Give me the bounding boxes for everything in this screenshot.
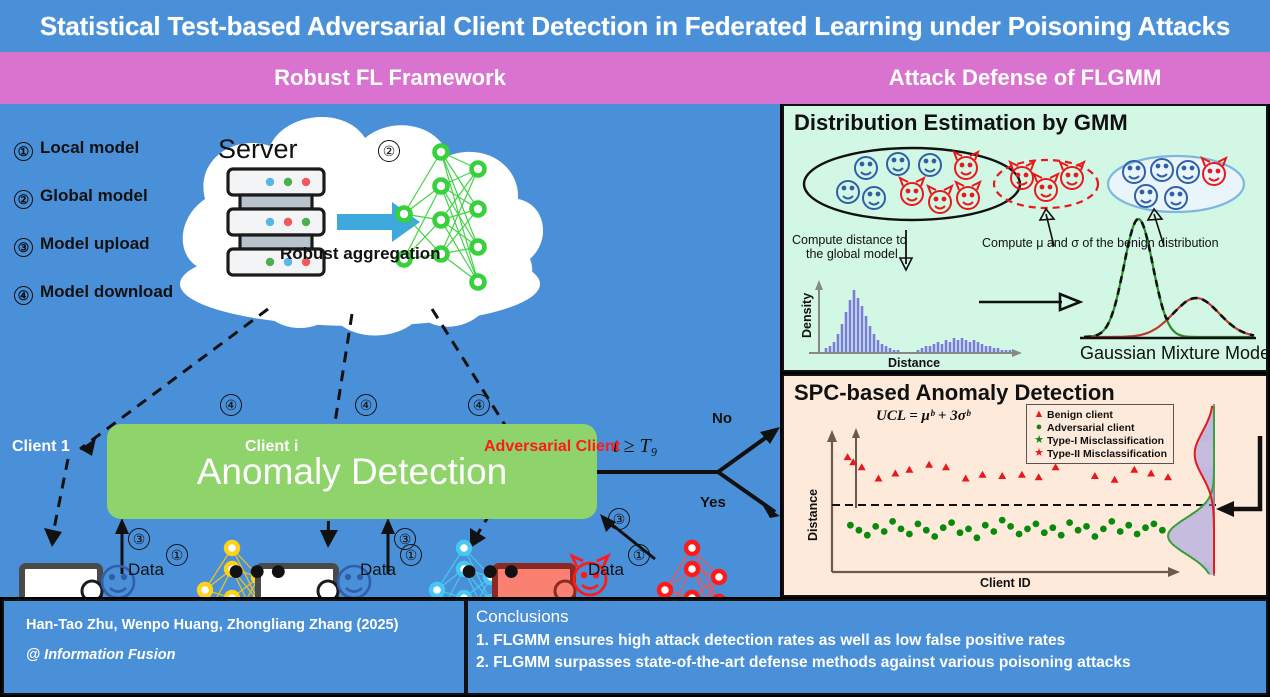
ellipsis-1: ●●●: [227, 556, 290, 586]
ucl-formula: UCL = μᵇ + 3σᵇ: [876, 408, 970, 425]
benign-cluster-ellipse: [1108, 156, 1244, 212]
download-marker-1: ④: [220, 394, 242, 416]
footer-authors-block: Han-Tao Zhu, Wenpo Huang, Zhongliang Zha…: [2, 599, 466, 695]
histogram-x-axis-label: Distance: [888, 356, 940, 370]
download-marker-2: ④: [355, 394, 377, 416]
footer-venue: @ Information Fusion: [26, 647, 464, 663]
data-label-i: Data: [352, 560, 404, 580]
circled-number-3: ③: [14, 238, 33, 257]
conclusion-item-2: 2. FLGMM surpasses state-of-the-art defe…: [476, 654, 1266, 672]
decision-arrowheads: [760, 427, 780, 518]
adversarial-face-icons-mixed: [900, 152, 980, 213]
benign-face-icons-mixed: [837, 153, 941, 209]
distance-histogram-bars: [826, 290, 1010, 352]
histogram-axes: [809, 286, 1016, 353]
circled-number-2: ②: [14, 190, 33, 209]
adversarial-client-marker-icon: ●: [1031, 422, 1047, 433]
spc-legend: ▲ Benign client ● Adversarial client ★ T…: [1026, 404, 1174, 464]
side-density-fill: [1168, 406, 1214, 574]
spc-legend-label-adversarial: Adversarial client: [1047, 422, 1135, 434]
server-label: Server: [218, 134, 298, 165]
data-label-adversarial: Data: [580, 560, 632, 580]
poster-root: Statistical Test-based Adversarial Clien…: [0, 0, 1270, 697]
benign-face-icons-cluster: [1123, 159, 1199, 209]
benign-client-marker-icon: ▲: [1031, 409, 1047, 420]
ellipsis-2: ●●●: [460, 556, 523, 586]
anomaly-detection-label: Anomaly Detection: [197, 451, 508, 493]
gmm-transform-arrowhead: [1060, 294, 1080, 310]
legend-item-local-model: ①Local model: [14, 138, 139, 161]
spc-legend-row-type1: ★ Type-I Misclassification: [1031, 434, 1167, 447]
data-label-1: Data: [120, 560, 172, 580]
cluster-pointer-arrowheads: [1040, 209, 1162, 220]
legend-item-global-model: ②Global model: [14, 186, 148, 209]
compute-mu-sigma-caption: Compute μ and σ of the benign distributi…: [982, 236, 1219, 250]
gmm-panel-heading: Distribution Estimation by GMM: [794, 110, 1128, 136]
spc-y-arrowhead: [827, 430, 837, 442]
spc-y-axis-label: Distance: [806, 489, 820, 541]
spc-legend-row-type2: ★ Type-II Misclassification: [1031, 447, 1167, 460]
footer-authors: Han-Tao Zhu, Wenpo Huang, Zhongliang Zha…: [26, 617, 464, 633]
person-icon-client-i: [294, 581, 346, 597]
spc-panel-heading: SPC-based Anomaly Detection: [794, 380, 1115, 406]
person-icon-adversarial: [531, 581, 583, 597]
section-title-left: Robust FL Framework: [0, 52, 780, 104]
adversarial-face-icon-in-benign-cluster: [1202, 158, 1226, 185]
spc-legend-label-type2: Type-II Misclassification: [1047, 448, 1167, 460]
section-title-right: Attack Defense of FLGMM: [780, 52, 1270, 104]
branch-label-yes: Yes: [700, 494, 726, 511]
global-model-nodes: [398, 146, 485, 289]
gaussian-mixture-model-caption: Gaussian Mixture Model: [1080, 343, 1268, 364]
mixed-population-ellipse: [804, 148, 1020, 220]
conclusion-item-1: 1. FLGMM ensures high attack detection r…: [476, 632, 1266, 650]
spc-adversarial-points: [847, 517, 1166, 542]
legend-item-model-download: ④Model download: [14, 282, 173, 305]
spc-x-axis-label: Client ID: [980, 576, 1031, 590]
circled-number-4: ④: [14, 286, 33, 305]
adversarial-cluster-ellipse: [994, 160, 1098, 208]
type-1-misclassification-marker-icon: ★: [1031, 435, 1047, 446]
legend-label-local-model: Local model: [40, 138, 139, 157]
laptop-icon-client-1: [12, 566, 110, 597]
legend-label-model-download: Model download: [40, 282, 173, 301]
spc-legend-label-benign: Benign client: [1047, 409, 1113, 421]
adversarial-face-icons-cluster: [1010, 162, 1084, 201]
histogram-x-arrowhead: [1012, 349, 1022, 357]
spc-incoming-arrowhead: [1216, 501, 1234, 517]
side-density-adversarial-curve: [1195, 406, 1214, 574]
footer-conclusions-block: Conclusions 1. FLGMM ensures high attack…: [466, 599, 1268, 695]
section-band: Robust FL Framework Attack Defense of FL…: [0, 52, 1270, 104]
conclusions-heading: Conclusions: [476, 607, 1266, 627]
legend-label-model-upload: Model upload: [40, 234, 150, 253]
spc-incoming-arrow: [1228, 436, 1260, 509]
compute-distance-caption-line2: the global model: [792, 247, 898, 261]
compute-distance-caption: Compute distance to the global model: [792, 233, 907, 262]
legend-item-model-upload: ③Model upload: [14, 234, 150, 257]
upload-marker-1: ③: [128, 528, 150, 550]
global-model-marker: ②: [378, 140, 400, 162]
histogram-y-arrowhead: [815, 280, 823, 290]
local-model-network-adversarial: [665, 548, 719, 597]
spc-legend-row-adversarial: ● Adversarial client: [1031, 421, 1167, 434]
download-marker-3: ④: [468, 394, 490, 416]
compute-distance-caption-line1: Compute distance to: [792, 233, 907, 247]
client-label-adversarial: Adversarial Client: [484, 438, 620, 456]
spc-legend-row-benign: ▲ Benign client: [1031, 408, 1167, 421]
page-title: Statistical Test-based Adversarial Clien…: [40, 11, 1230, 42]
upload-marker-3: ③: [608, 508, 630, 530]
legend-label-global-model: Global model: [40, 186, 148, 205]
model-download-arrowheads-lower: [44, 528, 486, 548]
type-2-misclassification-marker-icon: ★: [1031, 448, 1047, 459]
spc-x-arrowhead: [1168, 567, 1180, 577]
circled-number-1: ①: [14, 142, 33, 161]
ucl-pointer-arrowhead: [852, 428, 860, 438]
robust-fl-framework-panel: ①Local model ②Global model ③Model upload…: [0, 104, 780, 597]
person-icon-client-1: [58, 581, 110, 597]
robust-aggregation-label: Robust aggregation: [280, 244, 441, 264]
gmm-panel: Distribution Estimation by GMM: [782, 104, 1268, 372]
branch-label-no: No: [712, 410, 732, 427]
histogram-y-axis-label: Density: [800, 293, 814, 338]
spc-panel: SPC-based Anomaly Detection: [782, 374, 1268, 597]
client-label-i: Client i: [245, 438, 298, 456]
poster-title-bar: Statistical Test-based Adversarial Clien…: [0, 0, 1270, 52]
local-model-nodes-adversarial: [659, 542, 725, 597]
spc-legend-label-type1: Type-I Misclassification: [1047, 435, 1164, 447]
framework-diagram-svg: [0, 104, 780, 597]
client-label-1: Client 1: [12, 438, 70, 456]
aggregation-arrow-icon: [337, 202, 420, 242]
side-density-benign-curve: [1168, 406, 1214, 574]
